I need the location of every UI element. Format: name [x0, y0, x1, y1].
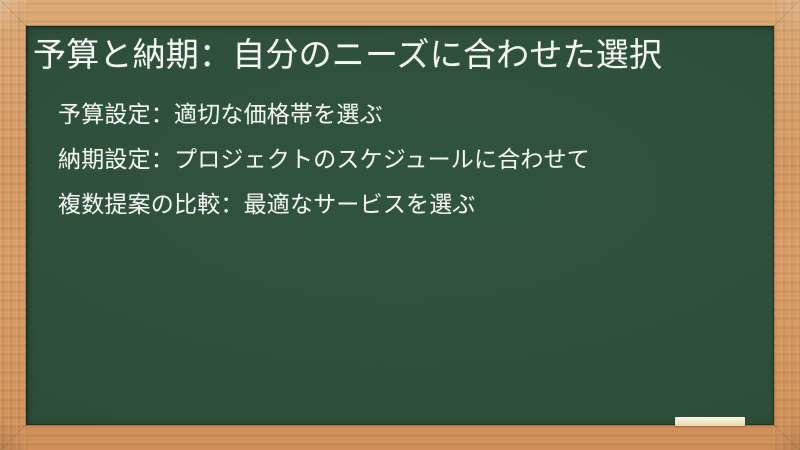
bullet-item-1: 予算設定：適切な価格帯を選ぶ — [58, 99, 658, 130]
frame-grain-left — [0, 0, 27, 450]
frame-corner-bottom-right — [772, 422, 800, 450]
chalkboard-slide: 予算と納期：自分のニーズに合わせた選択 予算設定：適切な価格帯を選ぶ 納期設定：… — [0, 0, 800, 450]
frame-miter-seam-top-left — [0, 0, 28, 27]
bullet-item-2: 納期設定：プロジェクトのスケジュールに合わせて — [58, 144, 658, 175]
frame-corner-top-left — [0, 0, 28, 28]
frame-corner-top-right — [772, 0, 800, 28]
frame-miter-seam-top-right — [772, 0, 800, 27]
slide-title: 予算と納期：自分のニーズに合わせた選択 — [33, 33, 733, 77]
chalkboard-surface: 予算と納期：自分のニーズに合わせた選択 予算設定：適切な価格帯を選ぶ 納期設定：… — [26, 26, 774, 425]
frame-grain-right — [773, 0, 800, 450]
frame-miter-seam-bottom-right — [772, 423, 800, 450]
chalk-stick — [675, 417, 745, 426]
frame-miter-seam-bottom-left — [0, 423, 28, 450]
chalkboard-content: 予算と納期：自分のニーズに合わせた選択 予算設定：適切な価格帯を選ぶ 納期設定：… — [26, 26, 774, 425]
bullet-list: 予算設定：適切な価格帯を選ぶ 納期設定：プロジェクトのスケジュールに合わせて 複… — [33, 99, 756, 219]
bullet-item-3: 複数提案の比較：最適なサービスを選ぶ — [58, 189, 658, 220]
frame-corner-bottom-left — [0, 422, 28, 450]
